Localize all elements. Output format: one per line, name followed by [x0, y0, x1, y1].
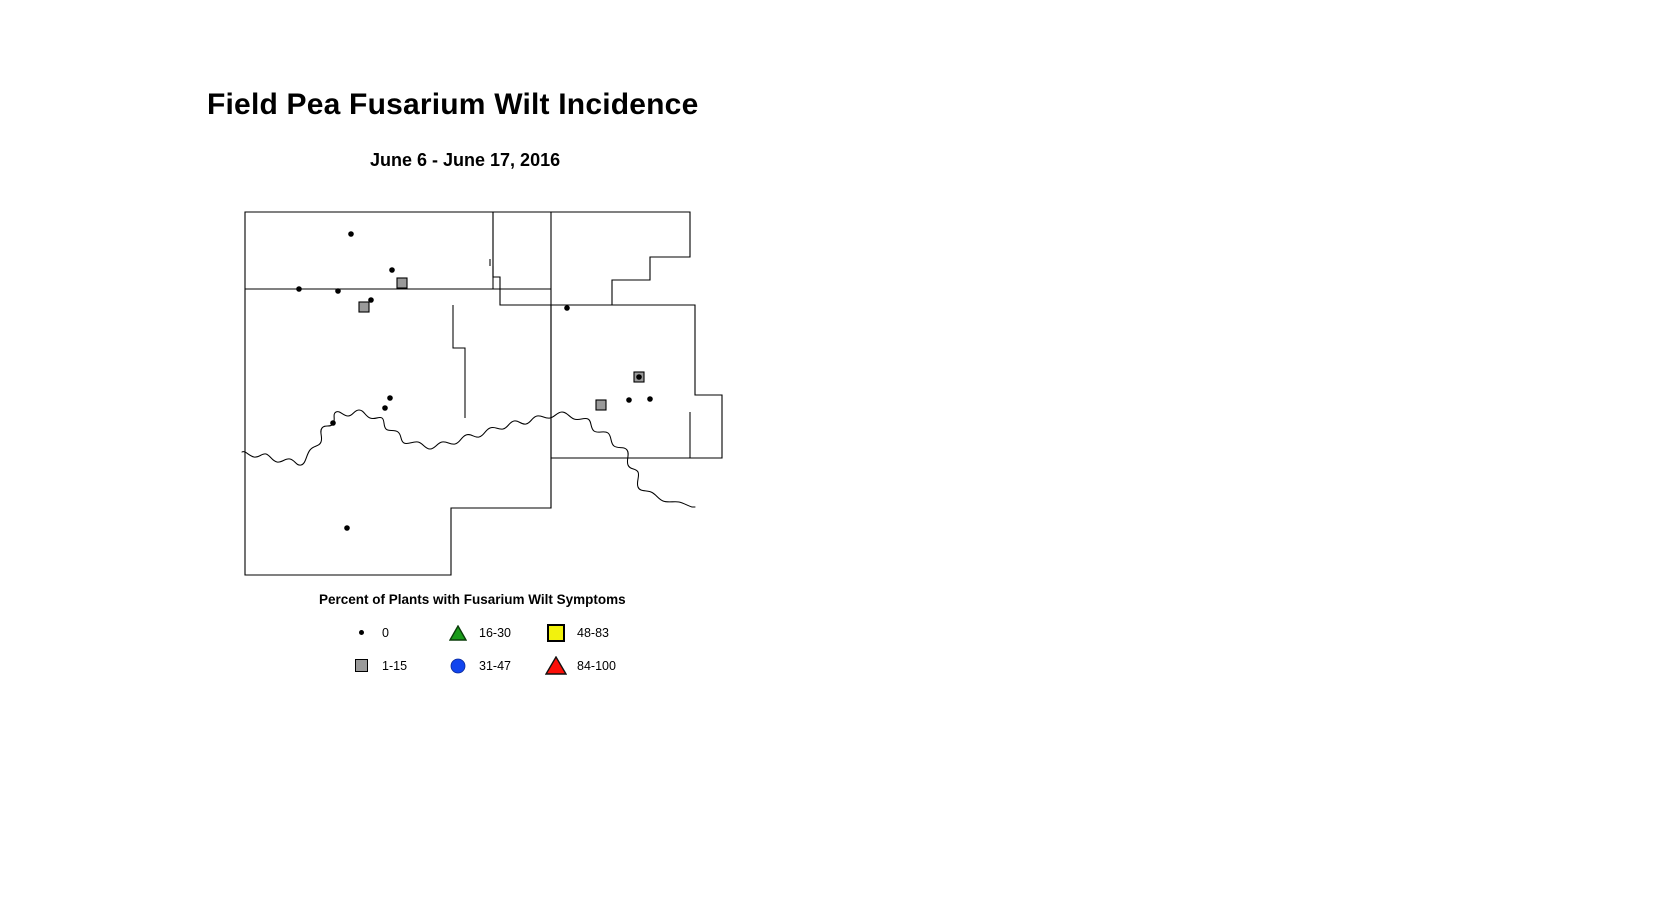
green-triangle-icon [447, 622, 469, 644]
marker-layer [296, 231, 653, 531]
legend-item-84-100[interactable]: 84-100 [545, 649, 616, 682]
map-marker-dot [344, 525, 350, 531]
map-marker-dot [335, 288, 341, 294]
red-triangle-icon [545, 655, 567, 677]
page-title: Field Pea Fusarium Wilt Incidence [207, 88, 698, 122]
county-line-vertical-lower [453, 305, 465, 418]
county-outline-northeast [493, 212, 690, 305]
county-outline-west [245, 212, 551, 575]
map-marker-gray-square [596, 400, 606, 410]
county-outline-east [500, 305, 722, 458]
map-marker-dot [296, 286, 302, 292]
legend-item-label: 1-15 [382, 659, 407, 673]
legend-row: 1-15 31-47 84-100 [240, 649, 760, 682]
legend-row: 0 16-30 48-83 [240, 616, 760, 649]
page-subtitle: June 6 - June 17, 2016 [370, 150, 560, 171]
map-marker-dot [387, 395, 393, 401]
map-marker-dot [330, 420, 336, 426]
legend-item-0[interactable]: 0 [350, 616, 389, 649]
legend-title: Percent of Plants with Fusarium Wilt Sym… [319, 592, 626, 607]
legend-item-label: 84-100 [577, 659, 616, 673]
map-marker-dot [368, 297, 374, 303]
map-marker-gray-square [397, 278, 407, 288]
map-marker-dot [647, 396, 653, 402]
map-marker-dot [382, 405, 388, 411]
map-marker-gray-square [359, 302, 369, 312]
map-figure [240, 200, 740, 595]
legend-item-16-30[interactable]: 16-30 [447, 616, 511, 649]
map-legend: Percent of Plants with Fusarium Wilt Sym… [240, 590, 760, 685]
map-marker-dot [389, 267, 395, 273]
gray-square-icon [350, 655, 372, 677]
map-marker-dot [626, 397, 632, 403]
legend-item-label: 31-47 [479, 659, 511, 673]
legend-item-label: 0 [382, 626, 389, 640]
map-marker-dot [564, 305, 570, 311]
small-black-dot-icon [350, 622, 372, 644]
county-step-southeast [690, 412, 722, 458]
blue-circle-icon [447, 655, 469, 677]
county-line-jog [490, 259, 500, 277]
legend-item-31-47[interactable]: 31-47 [447, 649, 511, 682]
legend-item-label: 48-83 [577, 626, 609, 640]
map-graphic [240, 200, 740, 595]
map-page: Field Pea Fusarium Wilt Incidence June 6… [0, 0, 1673, 900]
legend-item-1-15[interactable]: 1-15 [350, 649, 407, 682]
legend-item-label: 16-30 [479, 626, 511, 640]
map-marker-dot [636, 374, 642, 380]
legend-rows: 0 16-30 48-83 1- [240, 616, 760, 682]
yellow-square-icon [545, 622, 567, 644]
county-line-south-step [451, 458, 551, 508]
legend-item-48-83[interactable]: 48-83 [545, 616, 609, 649]
map-marker-dot [348, 231, 354, 237]
